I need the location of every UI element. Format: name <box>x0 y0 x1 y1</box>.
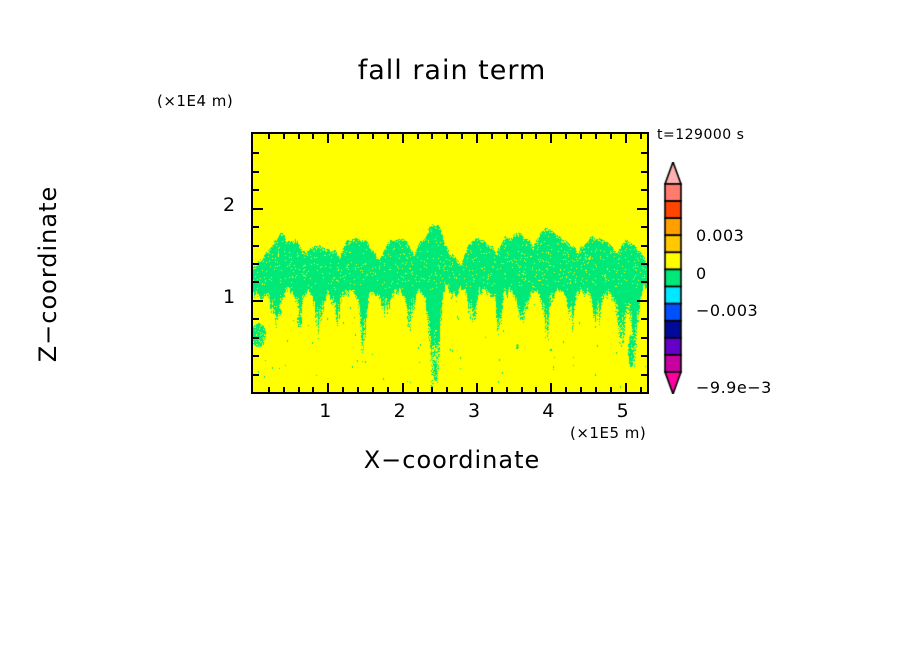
y-major-tick-right <box>637 208 647 210</box>
y-minor-tick <box>253 171 259 173</box>
x-major-tick-top <box>625 134 627 143</box>
x-minor-tick-top <box>417 134 419 139</box>
x-minor-tick <box>446 387 448 392</box>
y-tick-label: 2 <box>217 194 241 216</box>
y-minor-tick-right <box>641 171 647 173</box>
x-minor-tick <box>387 387 389 392</box>
x-minor-tick <box>521 387 523 392</box>
x-minor-tick-top <box>580 134 582 139</box>
x-minor-tick-top <box>431 134 433 139</box>
x-minor-tick-top <box>521 134 523 139</box>
y-major-tick <box>253 300 263 302</box>
x-minor-tick <box>312 387 314 392</box>
y-minor-tick-right <box>641 245 647 247</box>
x-tick-label: 5 <box>603 400 643 422</box>
x-minor-tick <box>595 387 597 392</box>
x-minor-tick-top <box>535 134 537 139</box>
x-minor-tick-top <box>298 134 300 139</box>
y-minor-tick-right <box>641 226 647 228</box>
x-minor-tick-top <box>461 134 463 139</box>
x-major-tick <box>402 383 404 392</box>
y-minor-tick <box>253 374 259 376</box>
y-minor-tick-right <box>641 337 647 339</box>
page-title: fall rain term <box>0 55 904 86</box>
axis-ticks-layer <box>251 132 649 394</box>
colorbar <box>663 162 683 394</box>
x-minor-tick <box>535 387 537 392</box>
x-minor-tick <box>417 387 419 392</box>
x-tick-label: 1 <box>305 400 345 422</box>
x-minor-tick-top <box>268 134 270 139</box>
x-major-tick-top <box>402 134 404 143</box>
x-minor-tick-top <box>387 134 389 139</box>
y-axis-title: Z−coordinate <box>34 144 62 404</box>
x-minor-tick <box>565 387 567 392</box>
x-minor-tick <box>640 387 642 392</box>
x-major-tick <box>476 383 478 392</box>
x-major-tick-top <box>327 134 329 143</box>
x-major-tick <box>625 383 627 392</box>
x-minor-tick <box>357 387 359 392</box>
x-minor-tick-top <box>491 134 493 139</box>
x-minor-tick-top <box>312 134 314 139</box>
y-minor-tick <box>253 245 259 247</box>
y-major-tick-right <box>637 300 647 302</box>
x-minor-tick <box>506 387 508 392</box>
y-minor-tick-right <box>641 263 647 265</box>
timestamp-annotation: t=129000 s <box>657 127 744 143</box>
x-minor-tick <box>268 387 270 392</box>
x-tick-label: 4 <box>528 400 568 422</box>
x-axis-title: X−coordinate <box>0 446 904 474</box>
y-major-tick <box>253 208 263 210</box>
y-minor-tick <box>253 152 259 154</box>
x-minor-tick <box>491 387 493 392</box>
y-minor-tick <box>253 189 259 191</box>
x-minor-tick-top <box>506 134 508 139</box>
x-minor-tick-top <box>446 134 448 139</box>
x-major-tick <box>327 383 329 392</box>
colorbar-gradient-canvas <box>663 162 683 394</box>
y-axis-unit-label: (×1E4 m) <box>157 92 233 110</box>
x-minor-tick-top <box>565 134 567 139</box>
y-minor-tick <box>253 281 259 283</box>
x-minor-tick-top <box>372 134 374 139</box>
y-minor-tick <box>253 355 259 357</box>
y-minor-tick <box>253 263 259 265</box>
x-minor-tick <box>431 387 433 392</box>
y-minor-tick-right <box>641 281 647 283</box>
x-major-tick-top <box>476 134 478 143</box>
x-minor-tick <box>342 387 344 392</box>
colorbar-tick-label: 0.003 <box>696 226 744 245</box>
colorbar-tick-label: −0.003 <box>696 301 758 320</box>
x-minor-tick-top <box>283 134 285 139</box>
y-minor-tick-right <box>641 152 647 154</box>
x-minor-tick-top <box>342 134 344 139</box>
y-minor-tick <box>253 318 259 320</box>
x-minor-tick <box>372 387 374 392</box>
x-minor-tick-top <box>640 134 642 139</box>
x-minor-tick <box>610 387 612 392</box>
y-minor-tick-right <box>641 374 647 376</box>
x-minor-tick-top <box>610 134 612 139</box>
x-major-tick-top <box>550 134 552 143</box>
colorbar-tick-label: −9.9e−3 <box>696 378 772 397</box>
x-minor-tick-top <box>595 134 597 139</box>
x-axis-unit-label: (×1E5 m) <box>570 424 646 442</box>
x-tick-label: 3 <box>454 400 494 422</box>
y-tick-label: 1 <box>217 286 241 308</box>
x-minor-tick <box>298 387 300 392</box>
y-minor-tick <box>253 337 259 339</box>
x-minor-tick <box>283 387 285 392</box>
x-minor-tick <box>461 387 463 392</box>
x-major-tick <box>550 383 552 392</box>
y-minor-tick-right <box>641 189 647 191</box>
colorbar-tick-label: 0 <box>696 264 707 283</box>
y-minor-tick-right <box>641 318 647 320</box>
y-minor-tick <box>253 226 259 228</box>
x-tick-label: 2 <box>380 400 420 422</box>
x-minor-tick <box>580 387 582 392</box>
y-minor-tick-right <box>641 355 647 357</box>
x-minor-tick-top <box>357 134 359 139</box>
